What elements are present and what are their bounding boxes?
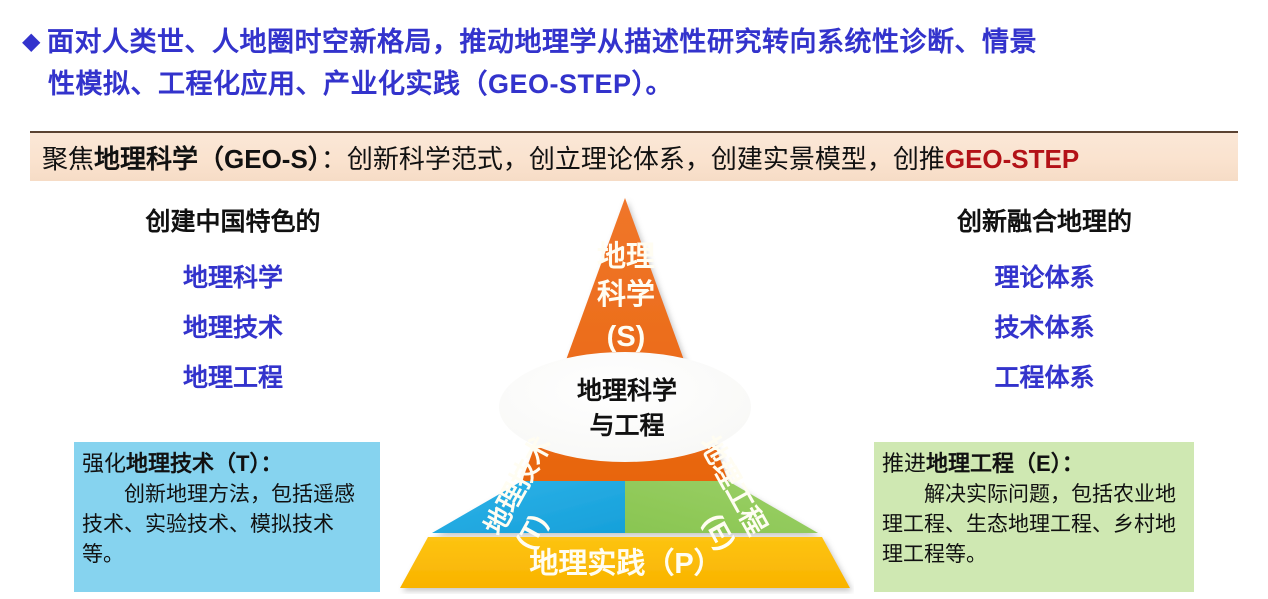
callout-engineering-body: 解决实际问题，包括农业地理工程、生态地理工程、乡村地理工程等。 [882,480,1186,570]
banner-colon: ： [321,144,347,174]
callout-technology: 强化地理技术（T）： 创新地理方法，包括遥感技术、实验技术、模拟技术等。 [74,442,380,592]
heading-line-1: ◆面对人类世、人地圈时空新格局，推动地理学从描述性研究转向系统性诊断、情景 [22,22,1252,64]
left-column-item-1: 地理科学 [48,253,418,303]
callout-engineering: 推进地理工程（E）： 解决实际问题，包括农业地理工程、生态地理工程、乡村地理工程… [874,442,1194,592]
focus-banner-text: 聚焦地理科学（GEO-S）：创新科学范式，创立理论体系，创建实景模型，创推GEO… [30,139,1079,176]
callout-engineering-heading: 推进地理工程（E）： [882,448,1186,480]
right-column-title: 创新融合地理的 [852,205,1237,239]
callout-technology-prefix: 强化 [82,451,126,476]
callout-engineering-term: 地理工程（E）： [926,451,1084,476]
callout-technology-body: 创新地理方法，包括遥感技术、实验技术、模拟技术等。 [82,480,372,570]
focus-banner: 聚焦地理科学（GEO-S）：创新科学范式，创立理论体系，创建实景模型，创推GEO… [30,131,1238,181]
slide-heading: ◆面对人类世、人地圈时空新格局，推动地理学从描述性研究转向系统性诊断、情景 性模… [22,22,1252,104]
core-label-line2: 与工程 [589,412,664,440]
label-practice: 地理实践（P） [529,546,722,580]
right-column-item-3: 工程体系 [852,353,1237,403]
left-column-item-2: 地理技术 [48,303,418,353]
label-science-code: (S) [607,321,646,353]
banner-bold-term: 地理科学（GEO-S） [94,144,321,174]
left-column-item-3: 地理工程 [48,353,418,403]
label-science-line2: 科学 [597,277,655,311]
callout-engineering-prefix: 推进 [882,451,926,476]
diamond-bullet-icon: ◆ [22,28,41,55]
right-column: 创新融合地理的 理论体系 技术体系 工程体系 [852,205,1237,403]
banner-geostep-highlight: GEO-STEP [945,144,1079,174]
banner-body: 创新科学范式，创立理论体系，创建实景模型，创推 [347,144,945,174]
left-column-title: 创建中国特色的 [48,205,418,239]
heading-line-1-text: 面对人类世、人地圈时空新格局，推动地理学从描述性研究转向系统性诊断、情景 [47,27,1037,57]
left-column: 创建中国特色的 地理科学 地理技术 地理工程 [48,205,418,403]
right-column-item-1: 理论体系 [852,253,1237,303]
geo-step-triangle-diagram: 地理 科学 (S) 地理科学 与工程 地理技术 (T) 地理工程 (E) 地理实… [398,194,854,594]
label-science-line1: 地理 [597,240,655,273]
core-label-line1: 地理科学 [577,376,677,405]
callout-technology-term: 地理技术（T）： [126,451,282,476]
heading-line-2: 性模拟、工程化应用、产业化实践（GEO-STEP）。 [22,64,1252,104]
callout-technology-heading: 强化地理技术（T）： [82,448,372,480]
banner-prefix: 聚焦 [42,144,94,174]
right-column-item-2: 技术体系 [852,303,1237,353]
